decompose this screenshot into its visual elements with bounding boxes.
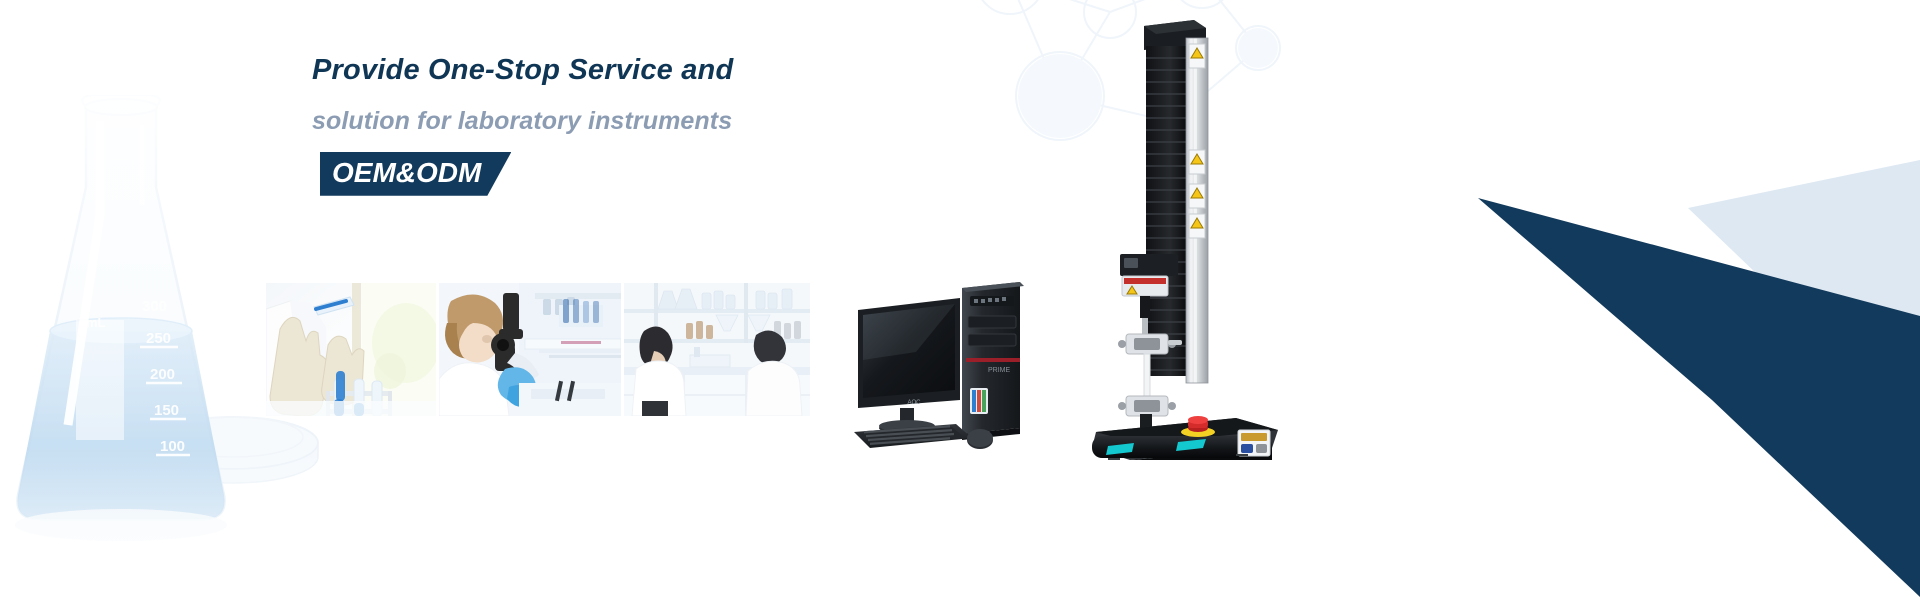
desktop-computer: PRIME AOC — [852, 282, 1082, 462]
machine-base — [1092, 416, 1278, 460]
svg-text:100: 100 — [160, 438, 185, 455]
lcd-monitor: AOC — [858, 298, 960, 434]
mouse — [967, 429, 993, 449]
photo-pipetting-test-tubes — [266, 283, 436, 416]
svg-text:250: 250 — [146, 330, 171, 347]
photo-lab-bench-team — [624, 283, 810, 416]
oem-odm-badge-wrap: OEM&ODM — [320, 152, 511, 196]
monitor-brand-text: AOC — [907, 400, 921, 406]
svg-text:PRIME: PRIME — [988, 367, 1011, 374]
accent-shapes — [1460, 0, 1920, 597]
svg-text:200: 200 — [150, 366, 175, 383]
keyboard — [854, 424, 972, 448]
test-column — [1146, 38, 1208, 383]
pc-tower: PRIME — [962, 282, 1024, 440]
svg-text:300: 300 — [142, 298, 167, 315]
headline-line-1: Provide One-Stop Service and — [312, 56, 952, 85]
universal-tensile-testing-machine — [1086, 18, 1306, 460]
banner-stage: 300 250 200 150 100 mL Provide One-Stop … — [0, 0, 1920, 597]
photo-microscope-researcher — [439, 283, 621, 416]
erlenmeyer-flask: 300 250 200 150 100 mL — [17, 95, 224, 519]
navy-triangle — [1478, 198, 1920, 597]
lab-photo-strip — [266, 283, 810, 416]
petri-dish — [148, 417, 318, 483]
svg-text:150: 150 — [154, 402, 179, 419]
light-blue-triangle — [1688, 160, 1920, 430]
oem-odm-badge: OEM&ODM — [320, 152, 511, 196]
headline-block: Provide One-Stop Service and solution fo… — [312, 56, 952, 196]
svg-text:mL: mL — [86, 315, 106, 330]
headline-line-2: solution for laboratory instruments — [312, 109, 952, 134]
